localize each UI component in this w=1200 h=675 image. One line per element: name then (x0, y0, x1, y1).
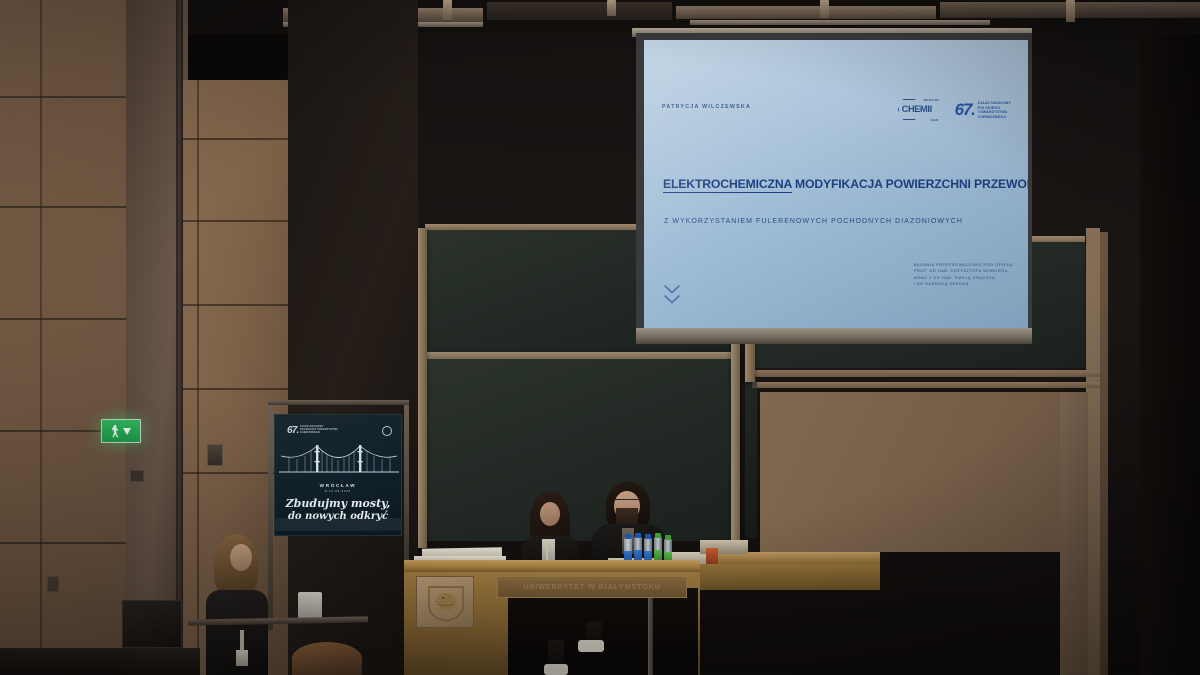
circular-logo-icon (382, 426, 392, 436)
lectern-plaque: UNIWERSYTET W BIAŁYMSTOKU (497, 576, 687, 598)
wood-rail-horizontal-1 (752, 370, 1100, 377)
arrow-down-icon (123, 428, 131, 435)
chemii-logo-tiny-bottom: UwB (931, 118, 938, 122)
ceiling-hanger-4 (1066, 0, 1075, 22)
badge (236, 650, 248, 666)
blackboard-left-post (418, 228, 427, 548)
face (540, 502, 560, 526)
suspension-bridge-illustration (279, 439, 399, 479)
foreground-audience-head (292, 642, 362, 675)
floor-equipment-box (122, 600, 182, 648)
shoe-left (544, 664, 568, 675)
right-dark-edge (1140, 0, 1200, 675)
chemii-logo-icon: WYDZIAŁ CHEMII UwB (898, 95, 944, 125)
slide-title-emphasis: ELEKTROCHEMICZNA (663, 177, 792, 193)
exit-sign (101, 419, 141, 443)
poster-stand-right (404, 400, 409, 560)
poster-stand-top (268, 400, 409, 405)
slide-subtitle: Z WYKORZYSTANIEM FULERENOWYCH POCHODNYCH… (664, 218, 963, 225)
slide-presenter-name: PATRYCJA WILCZEWSKA (662, 104, 751, 110)
slide-logo-group: WYDZIAŁ CHEMII UwB 67. ZJAZD NAUKOWY POL… (898, 95, 1011, 125)
wall-panel-right-edge (1060, 392, 1088, 675)
slide-title: ELEKTROCHEMICZNA MODYFIKACJA POWIERZCHNI… (663, 178, 1009, 191)
ceiling-rail-2 (690, 20, 990, 25)
wall-plate (130, 470, 144, 482)
running-person-icon (112, 425, 120, 438)
poster-meta: ZJAZD NAUKOWY POLSKIEGO TOWARZYSTWA CHEM… (300, 425, 338, 434)
lanyard (240, 630, 244, 652)
ceiling-hanger-3 (820, 0, 829, 18)
poster-date: 8-12.09.2025 (275, 490, 401, 493)
screen-bottom-bar (636, 328, 1032, 344)
bottle-cap (635, 533, 640, 538)
wall-left-outer (0, 0, 126, 675)
bottle-cap (665, 535, 670, 540)
lectern-cavity (508, 588, 698, 675)
chemii-logo-wordmark: CHEMII (902, 104, 932, 114)
wall-mounted-box[interactable] (207, 444, 223, 466)
conference-poster: 67. ZJAZD NAUKOWY POLSKIEGO TOWARZYSTWA … (274, 414, 402, 536)
blackboard-right-gap (745, 378, 757, 538)
slide-title-rest: MODYFIKACJA POWIERZCHNI PRZEWODZĄCYCH (792, 177, 1028, 191)
wood-rail-horizontal-2 (752, 382, 1100, 388)
bottle-cap (625, 534, 630, 539)
blackboard-left-lower (425, 359, 735, 541)
conference-line-4: CHEMICZNEGO (978, 115, 1011, 119)
slide-credits: BADANIA PRZEPROWADZANE POD OPIEKĄ PROF. … (914, 262, 1013, 287)
wall-pipe (176, 0, 183, 675)
glasses-icon (614, 499, 640, 504)
poster-slogan-line-1: Zbudujmy mosty, (275, 497, 401, 510)
wood-post-right (1086, 228, 1100, 675)
orange-book (706, 548, 718, 564)
chemii-logo-tiny-top: WYDZIAŁ (924, 98, 940, 102)
ceiling-hanger-2 (607, 0, 616, 16)
side-table-front (700, 564, 880, 590)
conference-logo-lines: ZJAZD NAUKOWY POLSKIEGO TOWARZYSTWA CHEM… (978, 101, 1011, 119)
credit-line-4: I DR BARBARĄ SEROKĄ (914, 281, 1013, 287)
blackboard-left-divider (420, 352, 738, 359)
lectern-crest (416, 576, 474, 628)
face (230, 544, 252, 571)
ceiling-hanger-1 (443, 0, 452, 20)
bottle-cap (645, 534, 650, 539)
wall-dark-middle (288, 0, 418, 675)
ceiling-beam-3 (487, 2, 672, 20)
bottle-cap (655, 533, 660, 538)
ceiling-beam-4 (676, 6, 936, 19)
chevron-down-icon (664, 285, 680, 304)
shoe-right (578, 640, 604, 652)
standing-woman-left (200, 534, 278, 675)
presentation-slide: PATRYCJA WILCZEWSKA WYDZIAŁ CHEMII UwB 6… (644, 40, 1028, 328)
conference-logo-number: 67. (955, 101, 975, 118)
poster-meta-line-3: CHEMICZNEGO (300, 431, 338, 434)
wall-panel-right-lower (760, 392, 1086, 552)
lectern-plaque-text: UNIWERSYTET W BIAŁYMSTOKU (498, 577, 686, 597)
floor-foreground (0, 648, 200, 675)
credit-line-2: PROF. DR HAB. KRZYSZTOFA WINKLERA (914, 268, 1013, 274)
poster-city: WROCŁAW (275, 483, 401, 488)
lectern-table-top (404, 560, 700, 572)
table-support-pole (648, 592, 653, 675)
poster-footer-bar (275, 518, 401, 531)
conference-logo: 67. ZJAZD NAUKOWY POLSKIEGO TOWARZYSTWA … (955, 101, 1011, 119)
lecture-hall-scene: PATRYCJA WILCZEWSKA WYDZIAŁ CHEMII UwB 6… (0, 0, 1200, 675)
eagle-crest-icon (425, 584, 467, 622)
wood-post-right-shadow (1100, 232, 1108, 675)
wall-outlet (47, 576, 59, 592)
poster-number: 67. (287, 425, 299, 436)
